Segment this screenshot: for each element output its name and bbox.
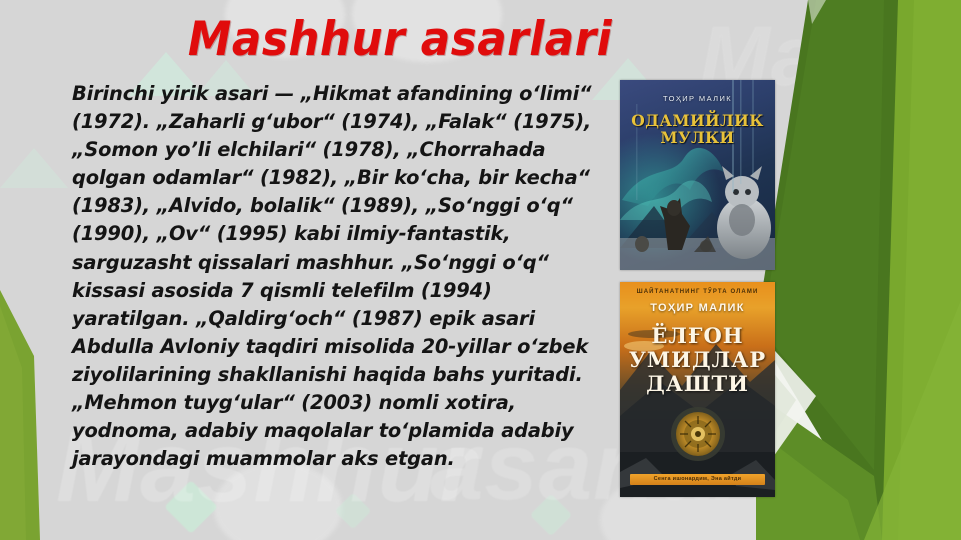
cover-title: Ёлғон умидлар дашти [620, 324, 775, 396]
watermark-blob [214, 462, 342, 540]
cover-artwork [620, 80, 775, 270]
facet-shapes [756, 0, 961, 540]
watermark-blob [840, 0, 910, 38]
left-green-wedge [0, 290, 48, 540]
watermark-diamond [335, 493, 372, 530]
left-wedge-shape [0, 290, 48, 540]
book-cover-yolgon-umidlar-dashti[interactable]: Шайтанатнинг тўрта олами Тоҳир Малик Ёлғ… [620, 282, 775, 497]
book-cover-odamiylik-mulki[interactable]: Тоҳир Малик Одамийлик мулки [620, 80, 775, 270]
right-green-facet [756, 0, 961, 540]
slide-body-text: Birinchi yirik asari — „Hikmat afandinin… [72, 80, 610, 473]
watermark-triangle [0, 148, 68, 188]
presentation-slide: Mashhur asarlari Mashhur [0, 0, 961, 540]
cover-title: Одамийлик мулки [620, 113, 775, 146]
cover-bottom-banner: Сенга ишонардим, Эна айтди [630, 474, 765, 485]
cover-author: Тоҳир Малик [620, 302, 775, 314]
watermark-diamond [530, 494, 572, 536]
page-title: Mashhur asarlari [28, 12, 772, 67]
cover-series-label: Шайтанатнинг тўрта олами [620, 289, 775, 295]
watermark-diamond [789, 175, 834, 220]
watermark-diamond [164, 480, 218, 534]
cover-author: Тоҳир Малик [620, 94, 775, 103]
